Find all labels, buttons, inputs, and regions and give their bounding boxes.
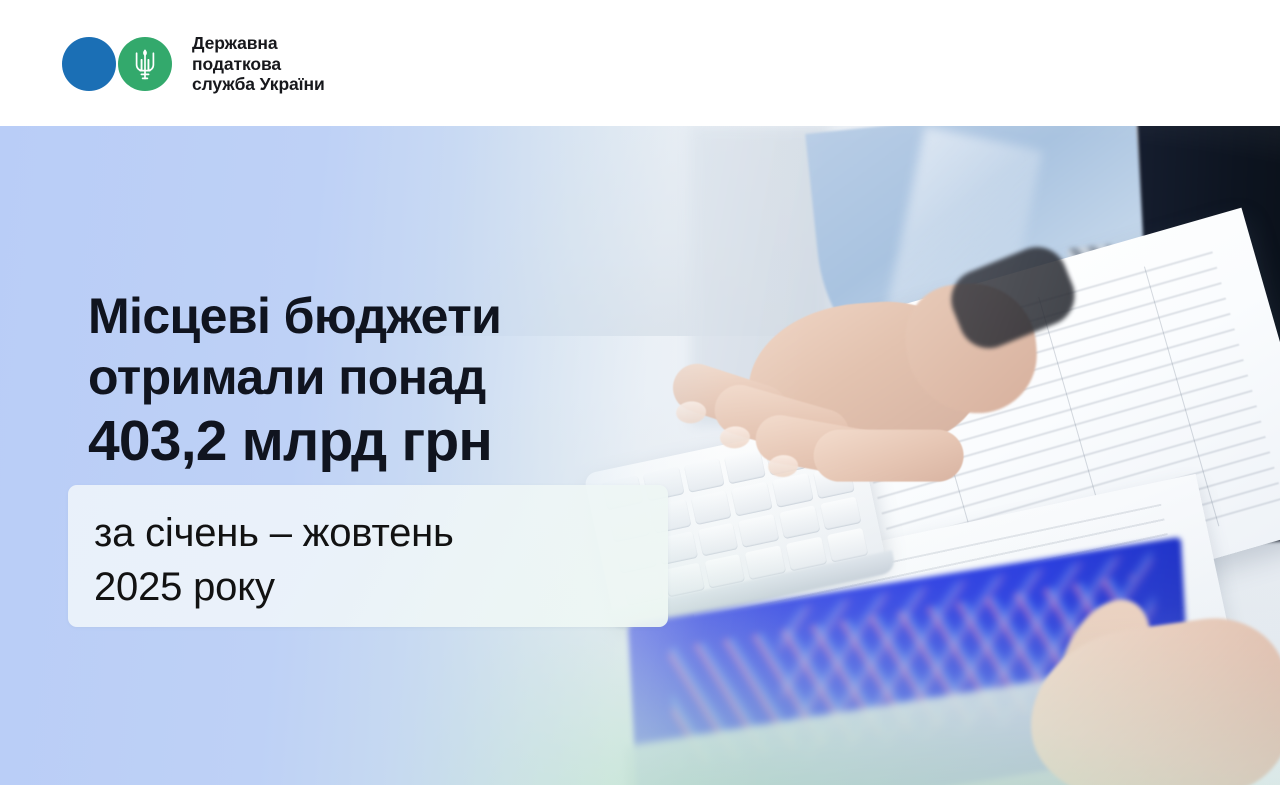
header-bar: Державна податкова служба України xyxy=(0,0,1280,126)
logo-blue-circle-icon xyxy=(62,37,116,91)
fingernail xyxy=(767,454,798,478)
headline-line-1: Місцеві бюджети xyxy=(88,286,708,347)
headline-amount: 403,2 млрд грн xyxy=(88,408,708,474)
subtitle-line-2: 2025 року xyxy=(94,560,654,614)
subtitle-text: за січень – жовтень 2025 року xyxy=(94,506,654,614)
subtitle-line-1: за січень – жовтень xyxy=(94,506,654,560)
poster: Державна податкова служба України xyxy=(0,0,1280,785)
ukraine-trident-icon xyxy=(118,37,172,91)
headline: Місцеві бюджети отримали понад 403,2 млр… xyxy=(88,286,708,474)
finger xyxy=(814,430,964,482)
logo-marks xyxy=(62,36,180,92)
organization-logo: Державна податкова служба України xyxy=(62,33,325,95)
fingernail xyxy=(719,425,750,449)
hero-image-area: Місцеві бюджети отримали понад 403,2 млр… xyxy=(0,126,1280,785)
headline-line-2: отримали понад xyxy=(88,347,708,408)
subtitle-box: за січень – жовтень 2025 року xyxy=(68,485,668,627)
organization-name: Державна податкова служба України xyxy=(192,33,325,95)
